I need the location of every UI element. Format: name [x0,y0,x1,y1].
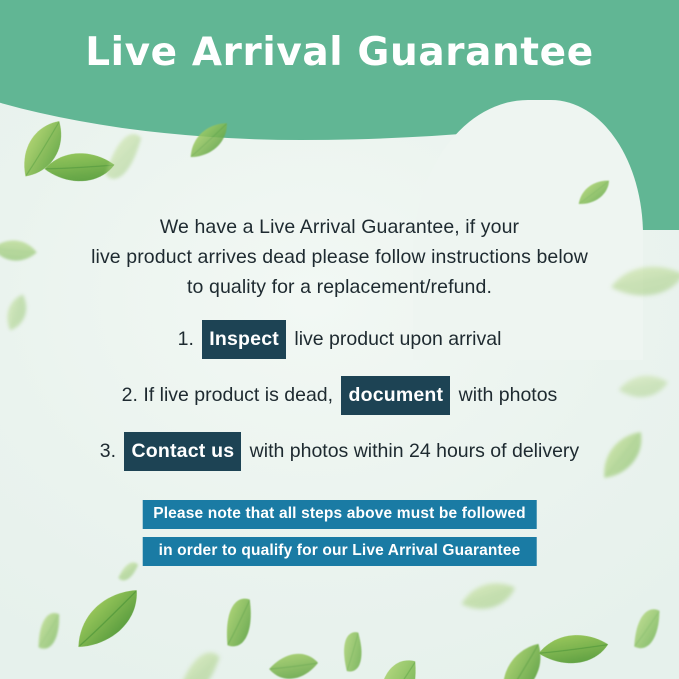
step-1: 1. Inspect live product upon arrival [0,320,679,376]
leaf-bottom-right-a-icon [459,576,516,619]
leaf-bottom-center-big-icon [366,655,428,679]
steps-list: 1. Inspect live product upon arrival2. I… [0,320,679,488]
footer-note-line-2: in order to qualify for our Live Arrival… [142,537,537,566]
step-2: 2. If live product is dead, document wit… [0,376,679,432]
step-3: 3. Contact us with photos within 24 hour… [0,432,679,488]
leaf-top-left-a-icon [7,117,79,183]
intro-line-2: live product arrives dead please follow … [80,242,600,272]
step-text-after: live product upon arrival [289,328,501,350]
leaf-bottom-far-right-icon [630,607,664,654]
leaf-left-edge-icon [0,227,39,275]
leaf-top-mid-icon [103,128,142,188]
leaf-bottom-mid-a-icon [216,595,262,654]
poster-canvas: Live Arrival Guarantee We have a Live Ar… [0,0,679,679]
leaf-bottom-left-blur-icon [177,645,221,679]
intro-line-3: to quality for a replacement/refund. [80,272,600,302]
leaf-bottom-tiny-icon [117,558,139,585]
step-number: 3. [100,440,122,462]
leaf-bottom-right-b-icon [486,640,559,679]
intro-paragraph: We have a Live Arrival Guarantee, if you… [80,212,600,302]
page-title: Live Arrival Guarantee [0,30,679,75]
footer-note: Please note that all steps above must be… [142,500,537,574]
step-text-before: If live product is dead, [143,384,338,406]
leaf-bottom-far-left-icon [33,610,64,653]
footer-note-line-1: Please note that all steps above must be… [142,500,537,529]
step-highlight: Contact us [124,432,241,471]
leaf-bottom-mid-b-icon [266,640,321,679]
step-highlight: document [341,376,450,415]
step-number: 1. [178,328,200,350]
step-number: 2. [122,384,144,406]
intro-line-1: We have a Live Arrival Guarantee, if you… [80,212,600,242]
leaf-bottom-mid-c-icon [333,629,373,678]
step-text-after: with photos [453,384,557,406]
step-highlight: Inspect [202,320,286,359]
leaf-bottom-right-c-icon [535,621,610,679]
leaf-bottom-left-big-icon [64,585,151,654]
step-text-after: with photos within 24 hours of delivery [244,440,579,462]
leaf-top-left-b-icon [41,137,117,199]
